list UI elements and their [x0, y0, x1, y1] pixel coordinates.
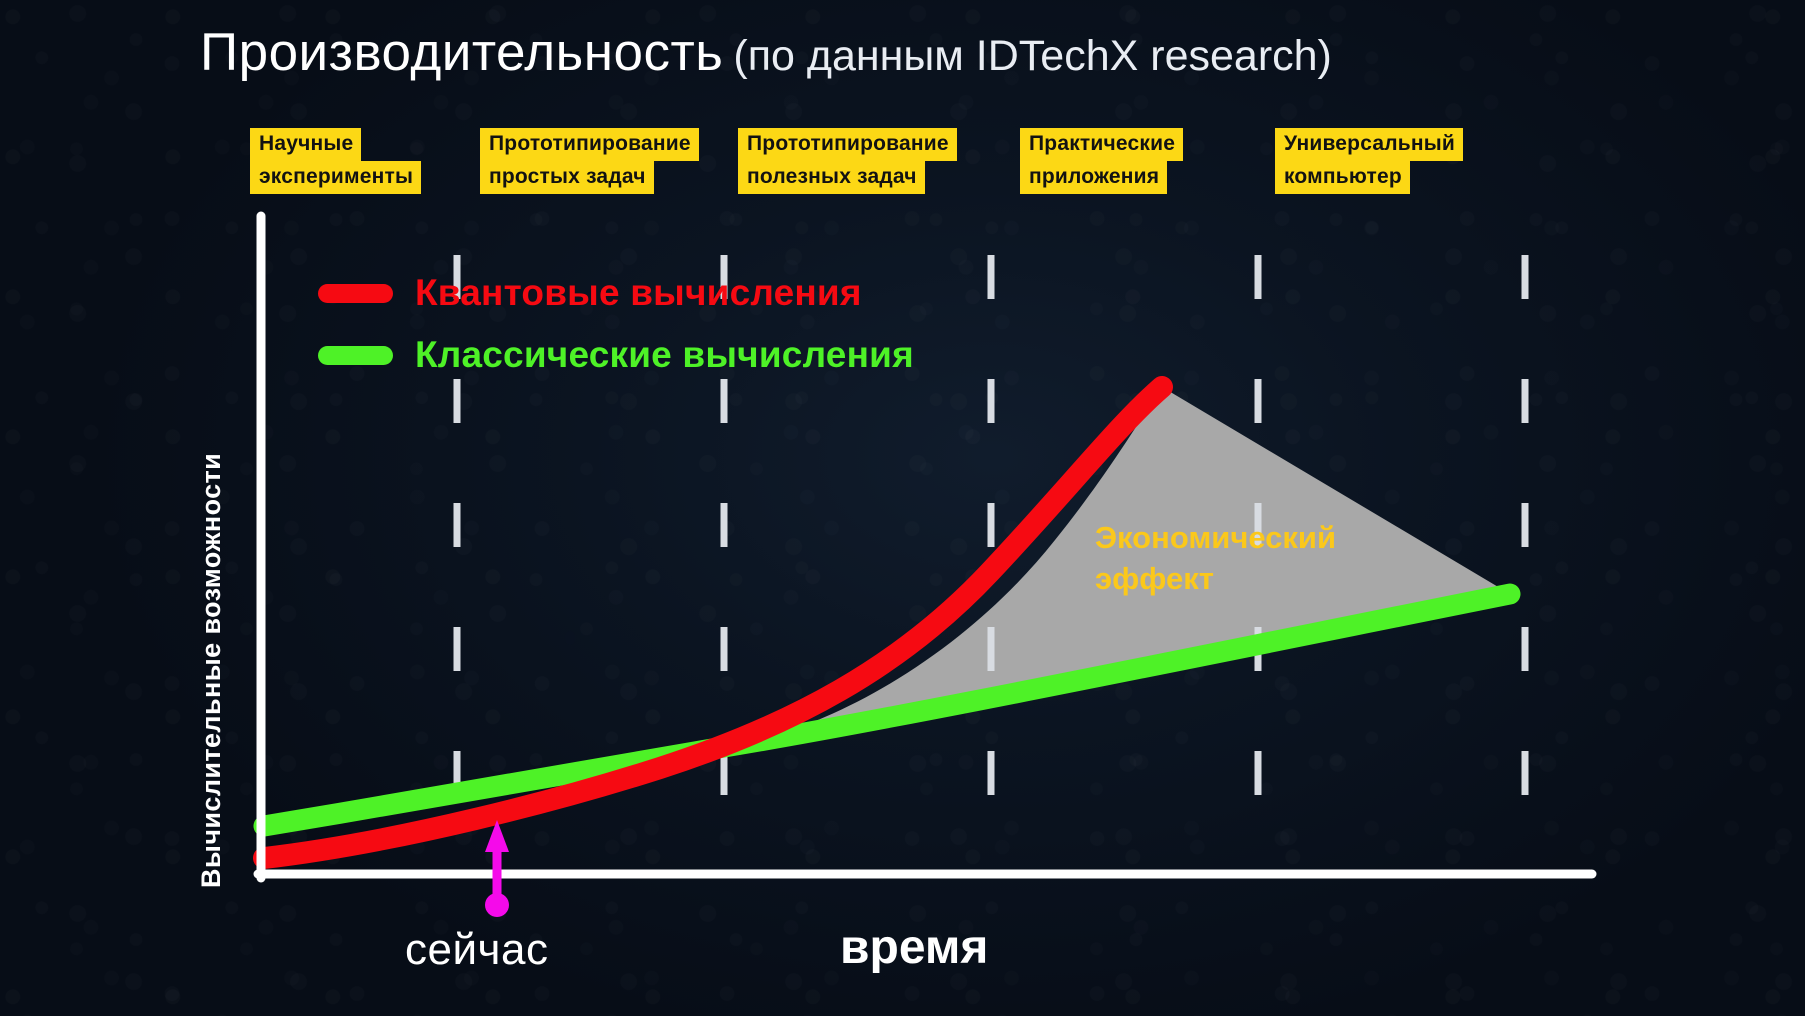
stage-tag-5-line1: Универсальный — [1275, 128, 1463, 161]
economic-effect-line1: Экономический — [1095, 518, 1336, 559]
title-subtitle: (по данным IDTechX research) — [733, 32, 1331, 80]
stage-tag-4: Практические приложения — [1020, 128, 1183, 194]
now-arrow-dot — [485, 893, 509, 917]
legend-item-classical: Классические вычисления — [318, 324, 914, 386]
x-axis-label: время — [840, 920, 988, 975]
stage-tag-4-line1: Практические — [1020, 128, 1183, 161]
legend-item-quantum: Квантовые вычисления — [318, 262, 914, 324]
y-axis-label: Вычислительные возможности — [196, 188, 227, 888]
legend-label-quantum: Квантовые вычисления — [415, 272, 862, 314]
legend-label-classical: Классические вычисления — [415, 334, 914, 376]
economic-effect-annotation: Экономический эффект — [1095, 518, 1336, 600]
now-marker — [485, 820, 509, 917]
stage-tag-3-line2: полезных задач — [738, 161, 925, 194]
stage-tag-1-line1: Научные — [250, 128, 361, 161]
stage-tag-1-line2: эксперименты — [250, 161, 421, 194]
legend-swatch-quantum — [318, 284, 393, 303]
economic-effect-line2: эффект — [1095, 559, 1336, 600]
title-main: Производительность — [200, 23, 723, 82]
stage-tag-2-line2: простых задач — [480, 161, 654, 194]
series-classical-line — [264, 594, 1510, 826]
stage-tag-1: Научные эксперименты — [250, 128, 421, 194]
page-title: Производительность(по данным IDTechX res… — [200, 22, 1332, 83]
stage-label-row: Научные эксперименты Прототипирование пр… — [0, 128, 1805, 200]
stage-tag-3: Прототипирование полезных задач — [738, 128, 957, 194]
stage-tag-2-line1: Прототипирование — [480, 128, 699, 161]
stage-tag-3-line1: Прототипирование — [738, 128, 957, 161]
stage-tag-5: Универсальный компьютер — [1275, 128, 1463, 194]
stage-tag-5-line2: компьютер — [1275, 161, 1410, 194]
slide-canvas: Производительность(по данным IDTechX res… — [0, 0, 1805, 1016]
legend-swatch-classical — [318, 346, 393, 365]
stage-tag-2: Прототипирование простых задач — [480, 128, 699, 194]
now-label: сейчас — [405, 925, 548, 975]
stage-tag-4-line2: приложения — [1020, 161, 1167, 194]
background-speck — [565, 631, 575, 645]
chart-legend: Квантовые вычисления Классические вычисл… — [318, 262, 914, 386]
